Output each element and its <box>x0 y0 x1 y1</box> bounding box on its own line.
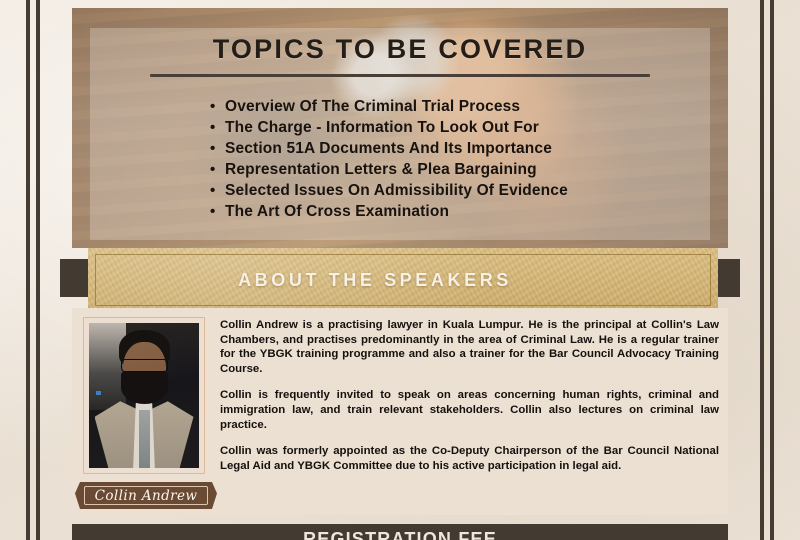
section-heading: ABOUT THE SPEAKERS <box>238 270 512 291</box>
list-item: Representation Letters & Plea Bargaining <box>210 159 728 180</box>
speaker-name: Collin Andrew <box>95 488 198 504</box>
photo-background-light <box>96 391 101 395</box>
bio-paragraph: Collin Andrew is a practising lawyer in … <box>220 318 719 376</box>
page-title: TOPICS TO BE COVERED <box>72 34 728 65</box>
topics-hero-section: TOPICS TO BE COVERED Overview Of The Cri… <box>72 8 728 248</box>
list-item: Selected Issues On Admissibility Of Evid… <box>210 180 728 201</box>
registration-fee-title: REGISTRATION FEE <box>72 524 728 540</box>
bio-paragraph: Collin is frequently invited to speak on… <box>220 388 719 432</box>
hero-content: TOPICS TO BE COVERED Overview Of The Cri… <box>72 8 728 222</box>
list-item: Overview Of The Criminal Trial Process <box>210 96 728 117</box>
topics-list: Overview Of The Criminal Trial Process T… <box>72 96 728 222</box>
title-underline-rule <box>150 74 650 77</box>
list-item: The Charge - Information To Look Out For <box>210 117 728 138</box>
list-item: Section 51A Documents And Its Importance <box>210 138 728 159</box>
speaker-panel: Collin Andrew Collin Andrew is a practis… <box>72 308 728 515</box>
glasses-icon <box>121 359 168 372</box>
avatar <box>89 323 199 468</box>
speaker-photo-column: Collin Andrew <box>83 317 209 509</box>
photo-beard <box>121 371 168 404</box>
speaker-name-plaque: Collin Andrew <box>75 482 217 509</box>
photo-frame <box>83 317 205 474</box>
poster-root: TOPICS TO BE COVERED Overview Of The Cri… <box>0 0 800 540</box>
bio-paragraph: Collin was formerly appointed as the Co-… <box>220 444 719 473</box>
speaker-bio: Collin Andrew is a practising lawyer in … <box>220 318 719 473</box>
about-speakers-ribbon: ABOUT THE SPEAKERS <box>0 248 800 314</box>
registration-fee-bar: REGISTRATION FEE <box>72 524 728 540</box>
ribbon-body: ABOUT THE SPEAKERS <box>88 248 718 312</box>
photo-tie <box>139 410 150 468</box>
list-item: The Art Of Cross Examination <box>210 201 728 222</box>
